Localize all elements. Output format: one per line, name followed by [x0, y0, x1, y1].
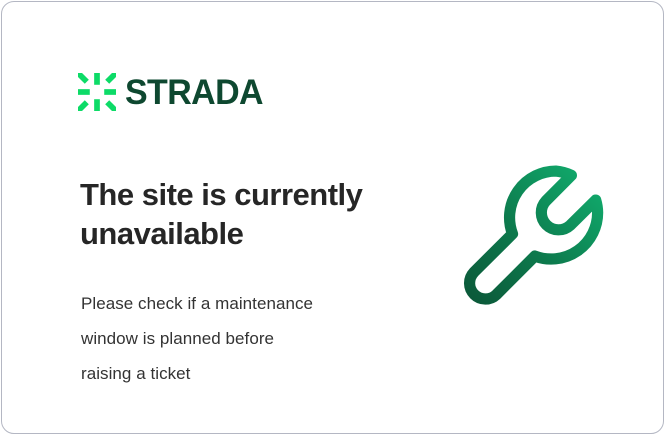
description-line: raising a ticket: [81, 357, 401, 392]
page-title: The site is currently unavailable: [80, 175, 420, 253]
wrench-icon: [454, 154, 618, 318]
error-page: STRADA The site is currently unavailable…: [0, 0, 666, 436]
asterisk-starburst-icon: [78, 73, 116, 111]
description-line: window is planned before: [81, 322, 401, 357]
page-description: Please check if a maintenance window is …: [81, 287, 401, 392]
brand-logo: STRADA: [78, 70, 267, 114]
description-line: Please check if a maintenance: [81, 287, 401, 322]
brand-wordmark: STRADA: [125, 75, 263, 110]
status-card: STRADA The site is currently unavailable…: [1, 1, 664, 434]
